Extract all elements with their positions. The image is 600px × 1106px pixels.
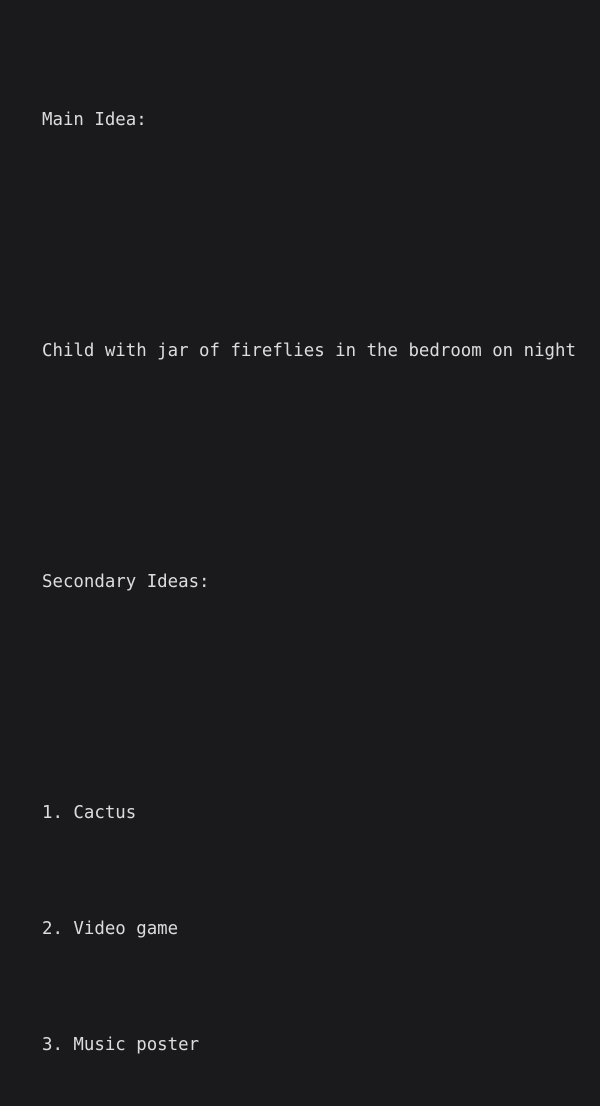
blank-line (42, 453, 600, 482)
list-item: 2. Video game (42, 915, 600, 944)
list-item: 1. Cactus (42, 799, 600, 828)
document-text-area[interactable]: Main Idea: Child with jar of fireflies i… (42, 19, 600, 1106)
main-idea-heading: Main Idea: (42, 106, 600, 135)
secondary-ideas-heading: Secondary Ideas: (42, 568, 600, 597)
blank-line (42, 684, 600, 713)
main-idea-value: Child with jar of fireflies in the bedro… (42, 337, 600, 366)
list-item: 3. Music poster (42, 1031, 600, 1060)
text-editor-canvas[interactable]: Main Idea: Child with jar of fireflies i… (0, 0, 600, 553)
blank-line (42, 221, 600, 250)
